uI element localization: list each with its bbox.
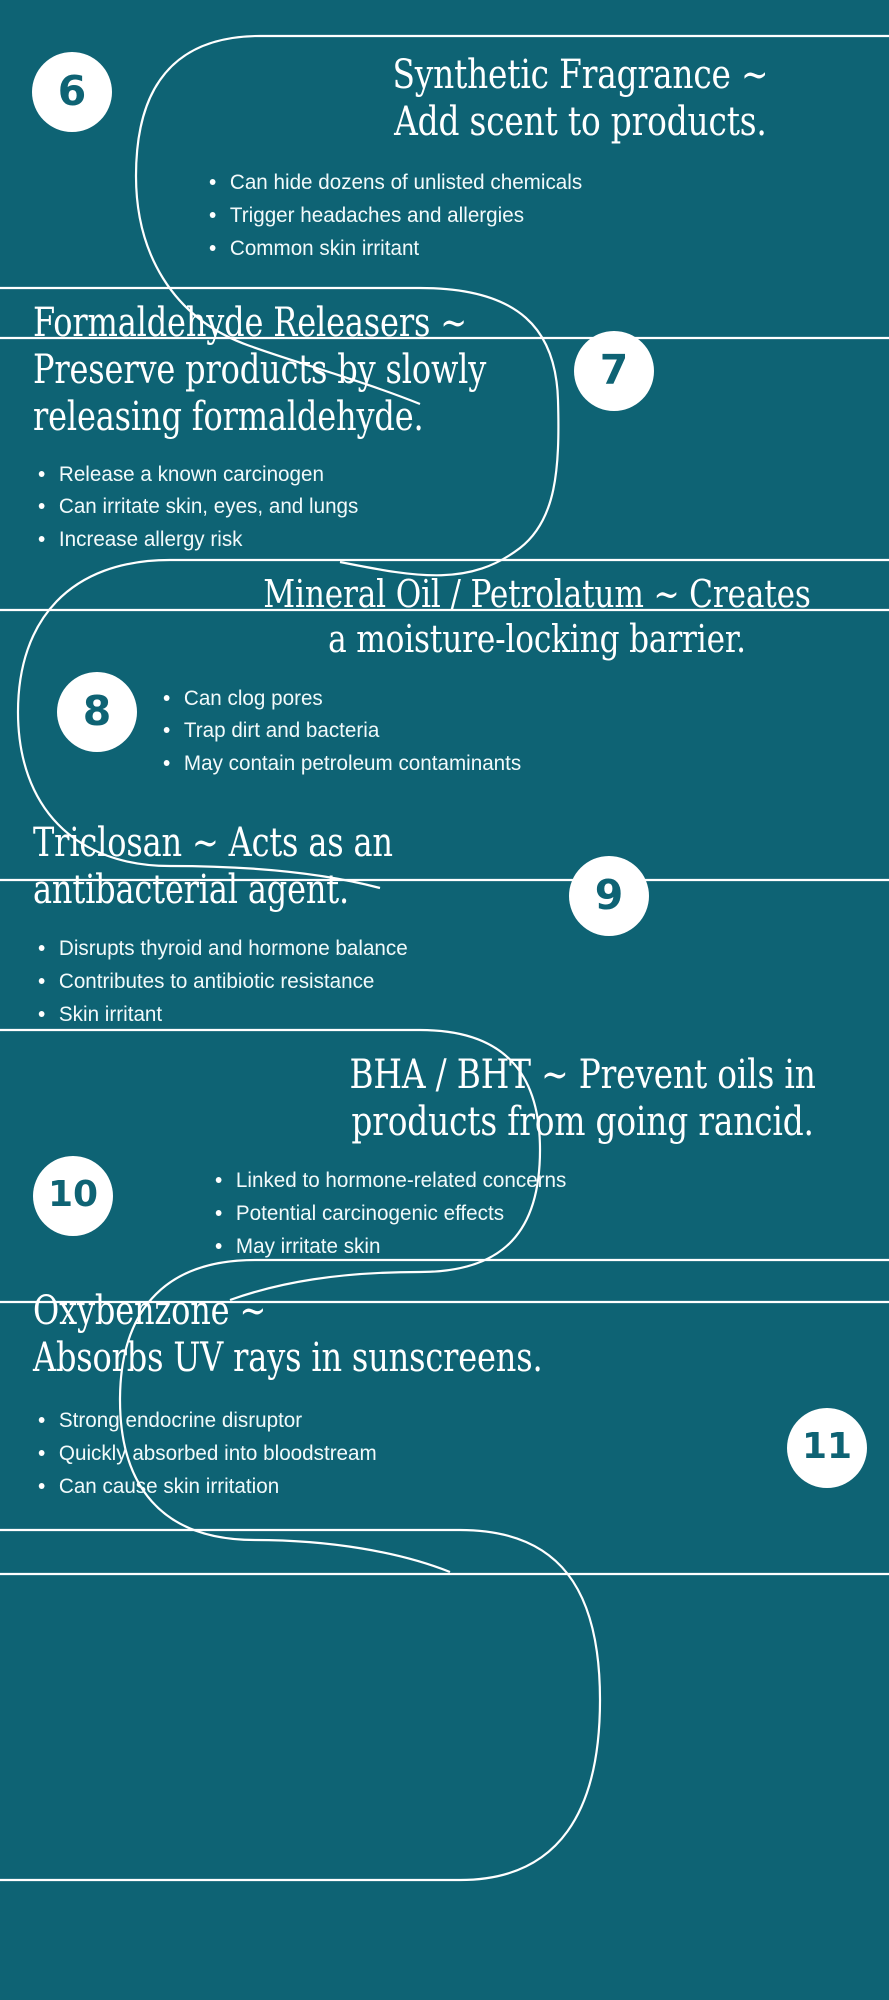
list-item: Contributes to antibiotic resistance [33,965,628,998]
section-6-content: Synthetic Fragrance ~ Add scent to produ… [190,52,830,264]
section-7-bullets: Release a known carcinogen Can irritate … [33,458,693,556]
badge-number-8: 8 [57,672,137,752]
badge-number-9: 9 [569,856,649,936]
section-11-content: Oxybenzone ~ Absorbs UV rays in sunscree… [33,1288,713,1502]
badge-label: 11 [802,1429,852,1465]
badge-number-11: 11 [787,1408,867,1488]
list-item: Can clog pores [158,682,784,715]
list-item: Linked to hormone-related concerns [210,1164,815,1197]
section-6-bullets: Can hide dozens of unlisted chemicals Tr… [204,166,830,264]
list-item: Strong endocrine disruptor [33,1404,686,1437]
infographic-poster: 6 Synthetic Fragrance ~ Add scent to pro… [0,0,889,2000]
list-item: Disrupts thyroid and hormone balance [33,932,628,965]
section-11-title: Oxybenzone ~ Absorbs UV rays in sunscree… [33,1288,718,1382]
section-6-title: Synthetic Fragrance ~ Add scent to produ… [260,52,889,146]
list-item: Increase allergy risk [33,523,667,556]
section-10-content: BHA / BHT ~ Prevent oils in products fro… [180,1052,840,1262]
badge-label: 6 [58,71,87,112]
section-10-title: BHA / BHT ~ Prevent oils in products fro… [252,1052,889,1146]
list-item: Quickly absorbed into bloodstream [33,1437,686,1470]
badge-label: 9 [595,875,624,916]
list-item: May irritate skin [210,1230,815,1263]
list-item: Common skin irritant [204,232,805,265]
badge-number-7: 7 [574,331,654,411]
list-item: Can hide dozens of unlisted chemicals [204,166,805,199]
list-item: Release a known carcinogen [33,458,667,491]
badge-label: 8 [83,691,112,732]
badge-number-10: 10 [33,1156,113,1236]
section-10-bullets: Linked to hormone-related concerns Poten… [210,1164,840,1262]
list-item: Can irritate skin, eyes, and lungs [33,490,667,523]
section-8-content: Mineral Oil / Petrolatum ~ Creates a moi… [110,572,810,780]
badge-label: 10 [48,1177,98,1213]
list-item: Can cause skin irritation [33,1470,686,1503]
section-8-title: Mineral Oil / Petrolatum ~ Creates a moi… [187,572,887,662]
badge-number-6: 6 [32,52,112,132]
list-item: Potential carcinogenic effects [210,1197,815,1230]
section-9-title: Triclosan ~ Acts as an antibacterial age… [33,820,658,914]
section-8-bullets: Can clog pores Trap dirt and bacteria Ma… [158,682,810,780]
badge-label: 7 [600,350,629,391]
list-item: May contain petroleum contaminants [158,747,784,780]
list-item: Trap dirt and bacteria [158,714,784,747]
section-9-content: Triclosan ~ Acts as an antibacterial age… [33,820,653,1030]
list-item: Skin irritant [33,998,628,1031]
section-9-bullets: Disrupts thyroid and hormone balance Con… [33,932,653,1030]
section-11-bullets: Strong endocrine disruptor Quickly absor… [33,1404,713,1502]
list-item: Trigger headaches and allergies [204,199,805,232]
